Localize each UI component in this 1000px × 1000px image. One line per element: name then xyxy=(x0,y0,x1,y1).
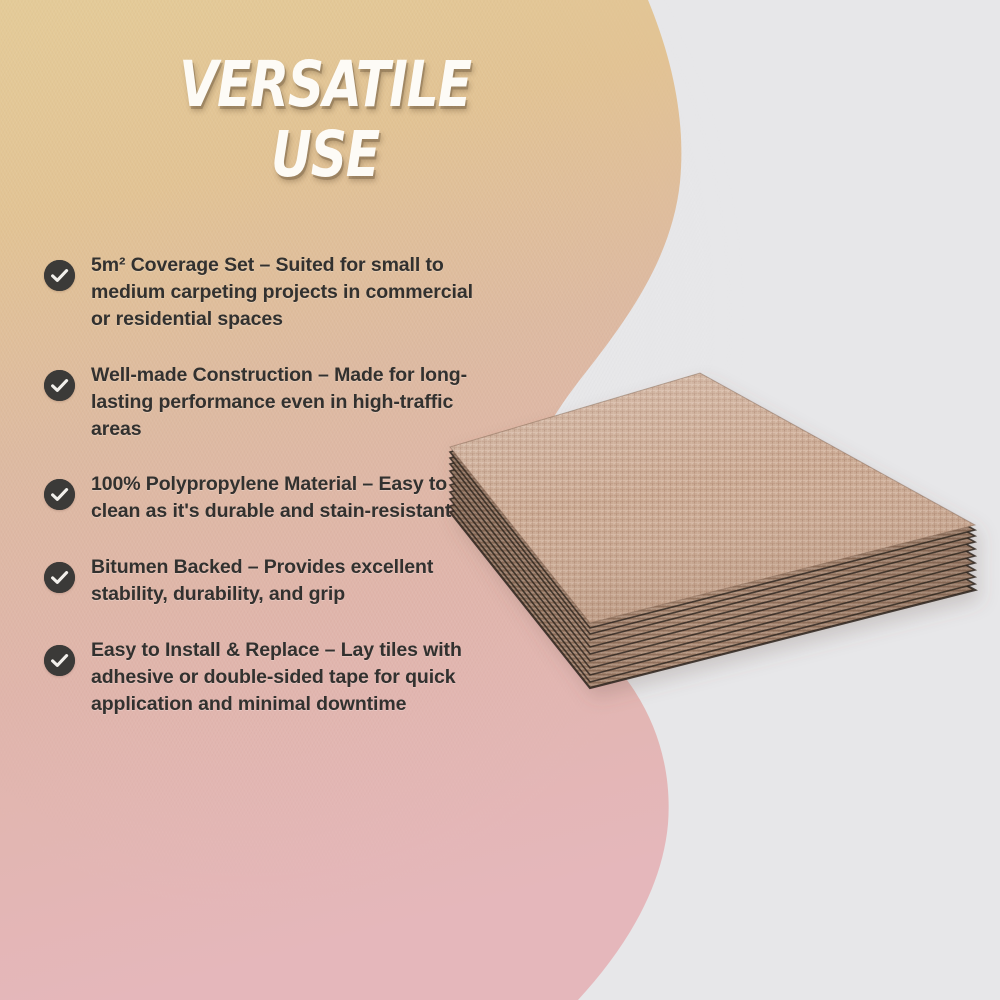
feature-text: Bitumen Backed – Provides excellent stab… xyxy=(91,554,474,608)
check-circle-icon xyxy=(44,260,75,291)
feature-item: Bitumen Backed – Provides excellent stab… xyxy=(44,554,474,608)
check-circle-icon xyxy=(44,562,75,593)
check-circle-icon xyxy=(44,479,75,510)
feature-item: Well-made Construction – Made for long-l… xyxy=(44,362,474,443)
check-circle-icon xyxy=(44,645,75,676)
feature-item: 5m² Coverage Set – Suited for small to m… xyxy=(44,252,474,333)
feature-list: 5m² Coverage Set – Suited for small to m… xyxy=(44,252,474,747)
page-title: VERSATILE USE xyxy=(60,55,590,186)
infographic-canvas: VERSATILE USE 5m² Coverage Set – Suited … xyxy=(0,0,1000,1000)
feature-text: 5m² Coverage Set – Suited for small to m… xyxy=(91,252,474,333)
page-title-line-1: VERSATILE xyxy=(113,55,537,115)
feature-item: 100% Polypropylene Material – Easy to cl… xyxy=(44,471,474,525)
feature-text: 100% Polypropylene Material – Easy to cl… xyxy=(91,471,474,525)
feature-text: Well-made Construction – Made for long-l… xyxy=(91,362,474,443)
page-title-line-2: USE xyxy=(113,125,537,185)
feature-item: Easy to Install & Replace – Lay tiles wi… xyxy=(44,637,474,718)
feature-text: Easy to Install & Replace – Lay tiles wi… xyxy=(91,637,474,718)
check-circle-icon xyxy=(44,370,75,401)
